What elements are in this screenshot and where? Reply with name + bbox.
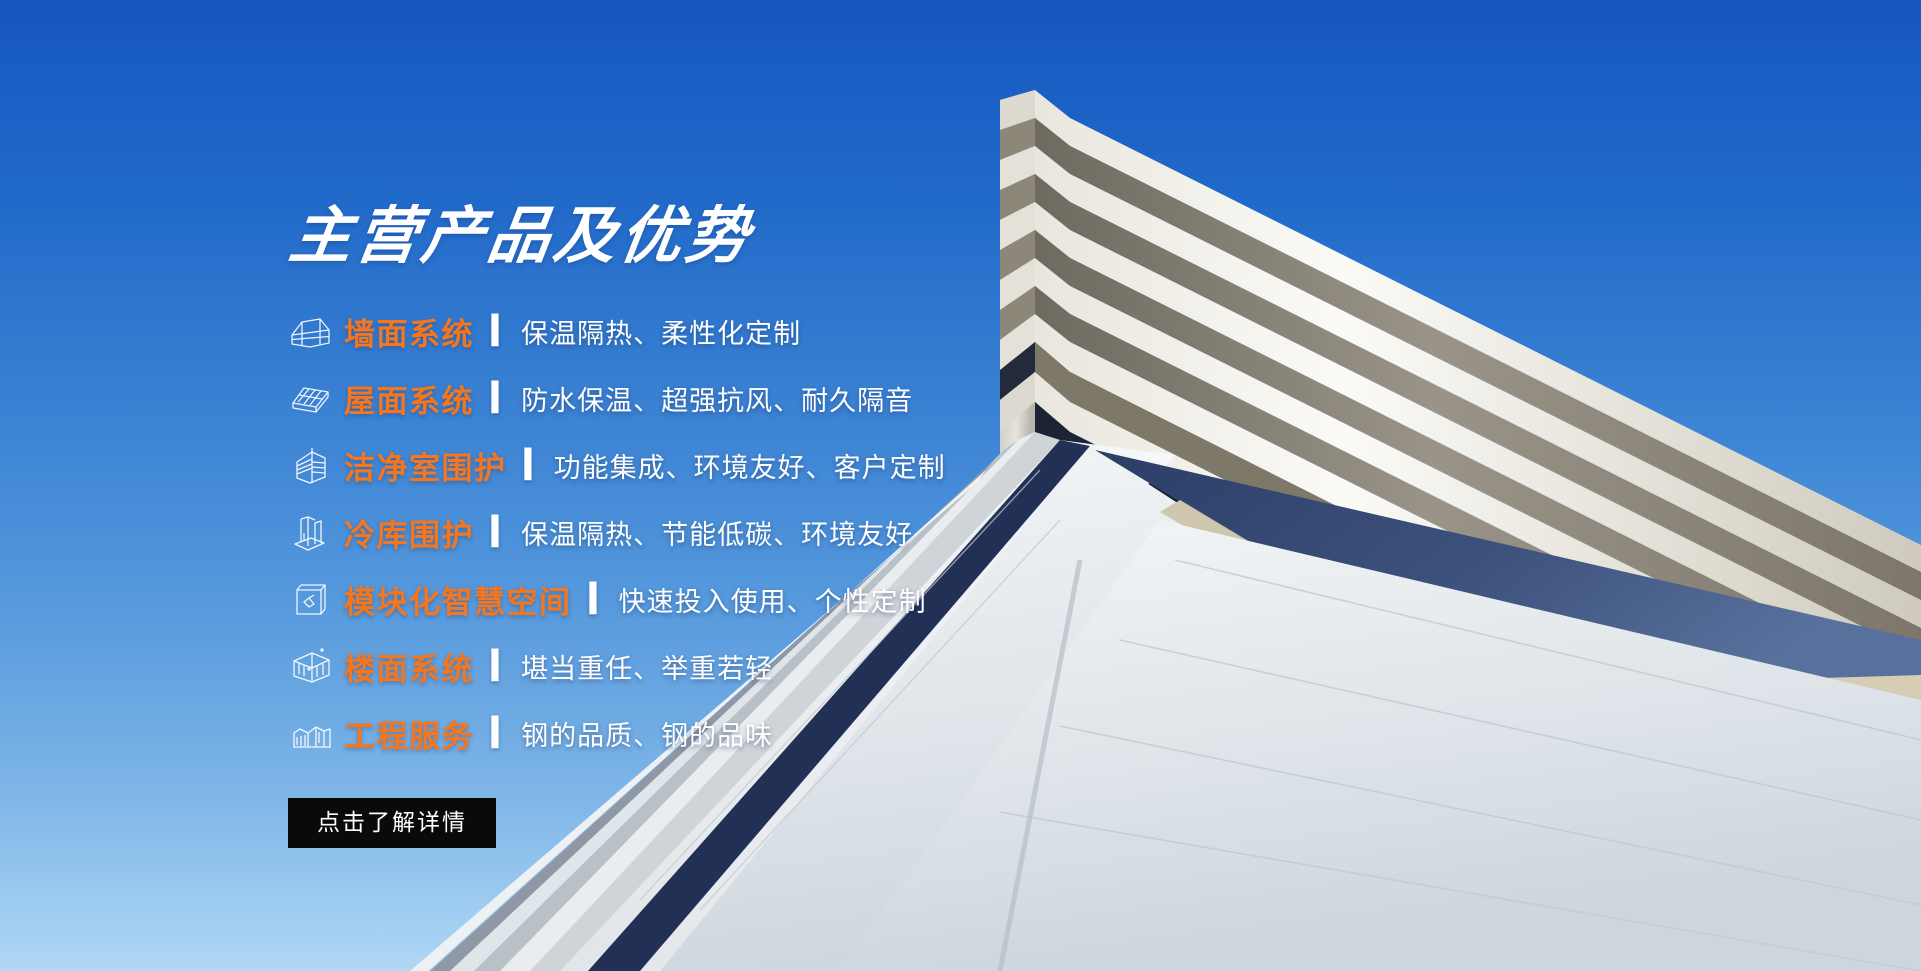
modular-cube-icon <box>288 577 344 623</box>
separator-bar: ▌ <box>491 718 505 745</box>
product-desc: 功能集成、环境友好、客户定制 <box>554 446 946 485</box>
product-advantages-banner: 主营产品及优势 墙面系统 ▌ 保温隔热、柔性化定制 <box>0 0 1921 971</box>
banner-content: 主营产品及优势 墙面系统 ▌ 保温隔热、柔性化定制 <box>0 0 1921 971</box>
cleanroom-building-icon <box>288 443 344 489</box>
separator-bar: ▌ <box>589 584 603 611</box>
page-title: 主营产品及优势 <box>286 206 757 268</box>
coldstore-panel-icon <box>288 510 344 556</box>
product-name: 洁净室围护 <box>344 443 507 488</box>
list-item[interactable]: 屋面系统 ▌ 防水保温、超强抗风、耐久隔音 <box>288 365 1388 432</box>
separator-bar: ▌ <box>491 383 505 410</box>
list-item[interactable]: 模块化智慧空间 ▌ 快速投入使用、个性定制 <box>288 566 1388 633</box>
product-desc: 防水保温、超强抗风、耐久隔音 <box>521 379 913 418</box>
floor-deck-icon <box>288 644 344 690</box>
list-item[interactable]: 楼面系统 ▌ 堪当重任、举重若轻 <box>288 633 1388 700</box>
learn-more-button[interactable]: 点击了解详情 <box>288 798 496 848</box>
product-list: 墙面系统 ▌ 保温隔热、柔性化定制 屋面系统 ▌ 防水保温、超强抗 <box>288 298 1388 767</box>
list-item[interactable]: 冷库围护 ▌ 保温隔热、节能低碳、环境友好 <box>288 499 1388 566</box>
separator-bar: ▌ <box>491 517 505 544</box>
list-item[interactable]: 墙面系统 ▌ 保温隔热、柔性化定制 <box>288 298 1388 365</box>
product-name: 模块化智慧空间 <box>344 577 572 622</box>
product-name: 工程服务 <box>344 711 474 756</box>
separator-bar: ▌ <box>491 316 505 343</box>
separator-bar: ▌ <box>524 450 538 477</box>
product-desc: 保温隔热、柔性化定制 <box>521 312 801 351</box>
product-name: 屋面系统 <box>344 376 474 421</box>
product-desc: 钢的品质、钢的品味 <box>521 714 773 753</box>
separator-bar: ▌ <box>491 651 505 678</box>
product-name: 楼面系统 <box>344 644 474 689</box>
product-desc: 堪当重任、举重若轻 <box>521 647 773 686</box>
list-item[interactable]: 工程服务 ▌ 钢的品质、钢的品味 <box>288 700 1388 767</box>
roof-panel-icon <box>288 376 344 422</box>
product-name: 冷库围护 <box>344 510 474 555</box>
product-desc: 保温隔热、节能低碳、环境友好 <box>521 513 913 552</box>
list-item[interactable]: 洁净室围护 ▌ 功能集成、环境友好、客户定制 <box>288 432 1388 499</box>
product-desc: 快速投入使用、个性定制 <box>619 580 927 619</box>
product-name: 墙面系统 <box>344 309 474 354</box>
wall-panel-icon <box>288 309 344 355</box>
factory-buildings-icon <box>288 711 344 757</box>
